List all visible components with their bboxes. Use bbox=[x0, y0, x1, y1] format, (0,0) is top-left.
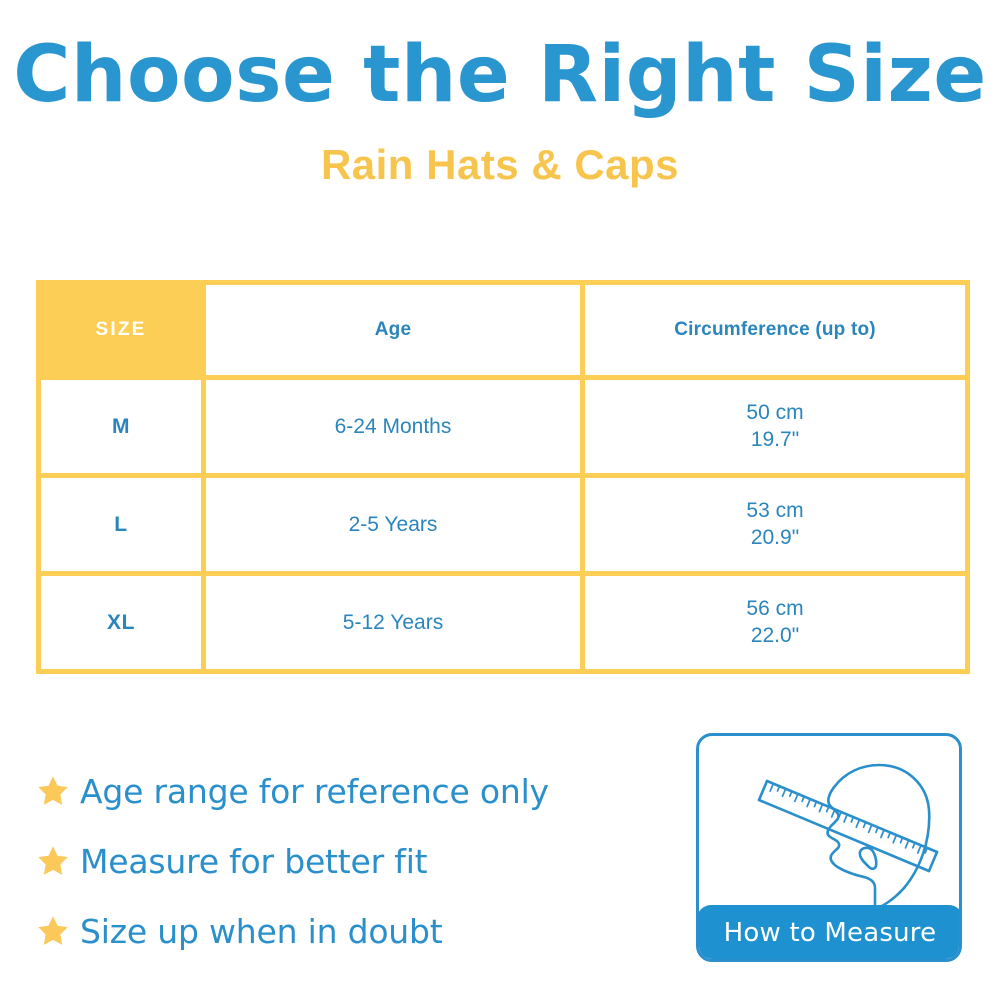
list-item: Age range for reference only bbox=[36, 756, 656, 826]
head-profile-with-tape-measure-icon bbox=[699, 736, 959, 921]
page-subtitle: Rain Hats & Caps bbox=[0, 114, 1000, 186]
list-item: Size up when in doubt bbox=[36, 896, 656, 966]
circumference-in: 19.7" bbox=[585, 427, 965, 454]
list-item: Measure for better fit bbox=[36, 826, 656, 896]
header: Choose the Right Size Rain Hats & Caps bbox=[0, 0, 1000, 186]
circumference-cm: 50 cm bbox=[585, 400, 965, 427]
how-to-measure-card[interactable]: How to Measure bbox=[696, 733, 962, 962]
table-row: M 6-24 Months 50 cm 19.7" bbox=[39, 378, 968, 476]
star-icon bbox=[36, 914, 70, 948]
circumference-in: 22.0" bbox=[585, 623, 965, 650]
cell-age-xl: 5-12 Years bbox=[204, 574, 583, 672]
tips-list: Age range for reference only Measure for… bbox=[36, 756, 656, 966]
cell-age-m: 6-24 Months bbox=[204, 378, 583, 476]
circumference-cm: 53 cm bbox=[585, 498, 965, 525]
cell-size-xl: XL bbox=[39, 574, 204, 672]
cell-circumference-l: 53 cm 20.9" bbox=[583, 476, 968, 574]
cell-age-l: 2-5 Years bbox=[204, 476, 583, 574]
cell-circumference-m: 50 cm 19.7" bbox=[583, 378, 968, 476]
column-header-age: Age bbox=[204, 283, 583, 378]
table-row: XL 5-12 Years 56 cm 22.0" bbox=[39, 574, 968, 672]
how-to-measure-label[interactable]: How to Measure bbox=[697, 905, 962, 961]
page-title: Choose the Right Size bbox=[0, 0, 1000, 114]
circumference-cm: 56 cm bbox=[585, 596, 965, 623]
column-header-size: SIZE bbox=[39, 283, 204, 378]
star-icon bbox=[36, 774, 70, 808]
table-row: L 2-5 Years 53 cm 20.9" bbox=[39, 476, 968, 574]
circumference-in: 20.9" bbox=[585, 525, 965, 552]
tip-text: Age range for reference only bbox=[80, 772, 549, 811]
size-chart-table: SIZE Age Circumference (up to) M 6-24 Mo… bbox=[36, 280, 970, 674]
table-header-row: SIZE Age Circumference (up to) bbox=[39, 283, 968, 378]
column-header-circumference: Circumference (up to) bbox=[583, 283, 968, 378]
cell-circumference-xl: 56 cm 22.0" bbox=[583, 574, 968, 672]
cell-size-l: L bbox=[39, 476, 204, 574]
star-icon bbox=[36, 844, 70, 878]
tip-text: Size up when in doubt bbox=[80, 912, 443, 951]
cell-size-m: M bbox=[39, 378, 204, 476]
tip-text: Measure for better fit bbox=[80, 842, 427, 881]
